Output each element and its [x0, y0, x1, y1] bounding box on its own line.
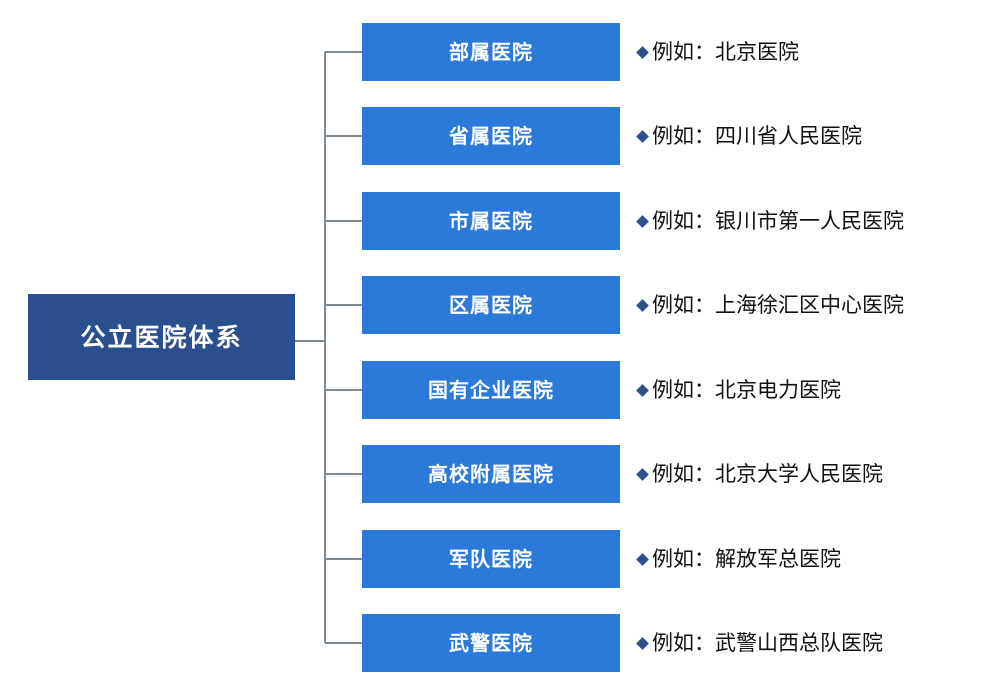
category-label-5: 国有企业医院 [428, 380, 554, 400]
example-text-3: 例如：银川市第一人民医院 [652, 211, 904, 232]
category-box-2[interactable]: 省属医院 [362, 107, 620, 165]
branch-row: 武警医院 例如：武警山西总队医院 [362, 614, 950, 672]
example-item-5: 例如：北京电力医院 [638, 361, 841, 419]
diamond-bullet-icon [636, 468, 649, 481]
category-box-4[interactable]: 区属医院 [362, 276, 620, 334]
example-text-2: 例如：四川省人民医院 [652, 126, 862, 147]
category-label-8: 武警医院 [449, 633, 533, 653]
diamond-bullet-icon [636, 553, 649, 566]
category-label-7: 军队医院 [449, 549, 533, 569]
category-label-6: 高校附属医院 [428, 464, 554, 484]
branch-row: 区属医院 例如：上海徐汇区中心医院 [362, 276, 950, 334]
diamond-bullet-icon [636, 130, 649, 143]
category-label-4: 区属医院 [449, 295, 533, 315]
example-item-3: 例如：银川市第一人民医院 [638, 192, 904, 250]
example-text-8: 例如：武警山西总队医院 [652, 633, 883, 654]
category-label-2: 省属医院 [449, 126, 533, 146]
diamond-bullet-icon [636, 46, 649, 59]
example-text-5: 例如：北京电力医院 [652, 380, 841, 401]
category-box-5[interactable]: 国有企业医院 [362, 361, 620, 419]
example-item-2: 例如：四川省人民医院 [638, 107, 862, 165]
branch-row: 省属医院 例如：四川省人民医院 [362, 107, 950, 165]
category-box-6[interactable]: 高校附属医院 [362, 445, 620, 503]
root-node-public-hospital-system[interactable]: 公立医院体系 [28, 294, 295, 380]
example-item-7: 例如：解放军总医院 [638, 530, 841, 588]
branch-row: 部属医院 例如：北京医院 [362, 23, 950, 81]
category-label-1: 部属医院 [449, 42, 533, 62]
example-item-1: 例如：北京医院 [638, 23, 799, 81]
example-text-6: 例如：北京大学人民医院 [652, 464, 883, 485]
branch-row: 高校附属医院 例如：北京大学人民医院 [362, 445, 950, 503]
diamond-bullet-icon [636, 384, 649, 397]
example-item-6: 例如：北京大学人民医院 [638, 445, 883, 503]
category-box-7[interactable]: 军队医院 [362, 530, 620, 588]
category-box-1[interactable]: 部属医院 [362, 23, 620, 81]
example-item-4: 例如：上海徐汇区中心医院 [638, 276, 904, 334]
category-label-3: 市属医院 [449, 211, 533, 231]
diamond-bullet-icon [636, 637, 649, 650]
diamond-bullet-icon [636, 215, 649, 228]
category-box-3[interactable]: 市属医院 [362, 192, 620, 250]
branch-row: 国有企业医院 例如：北京电力医院 [362, 361, 950, 419]
category-box-8[interactable]: 武警医院 [362, 614, 620, 672]
example-text-4: 例如：上海徐汇区中心医院 [652, 295, 904, 316]
diamond-bullet-icon [636, 299, 649, 312]
root-node-label: 公立医院体系 [80, 325, 242, 350]
example-text-1: 例如：北京医院 [652, 42, 799, 63]
branch-row: 军队医院 例如：解放军总医院 [362, 530, 950, 588]
org-chart-diagram: 公立医院体系 部属医院 例如：北京医院 省属医院 例如：四川省人民医院 市属医院… [0, 0, 1000, 680]
example-text-7: 例如：解放军总医院 [652, 549, 841, 570]
example-item-8: 例如：武警山西总队医院 [638, 614, 883, 672]
branch-row: 市属医院 例如：银川市第一人民医院 [362, 192, 950, 250]
